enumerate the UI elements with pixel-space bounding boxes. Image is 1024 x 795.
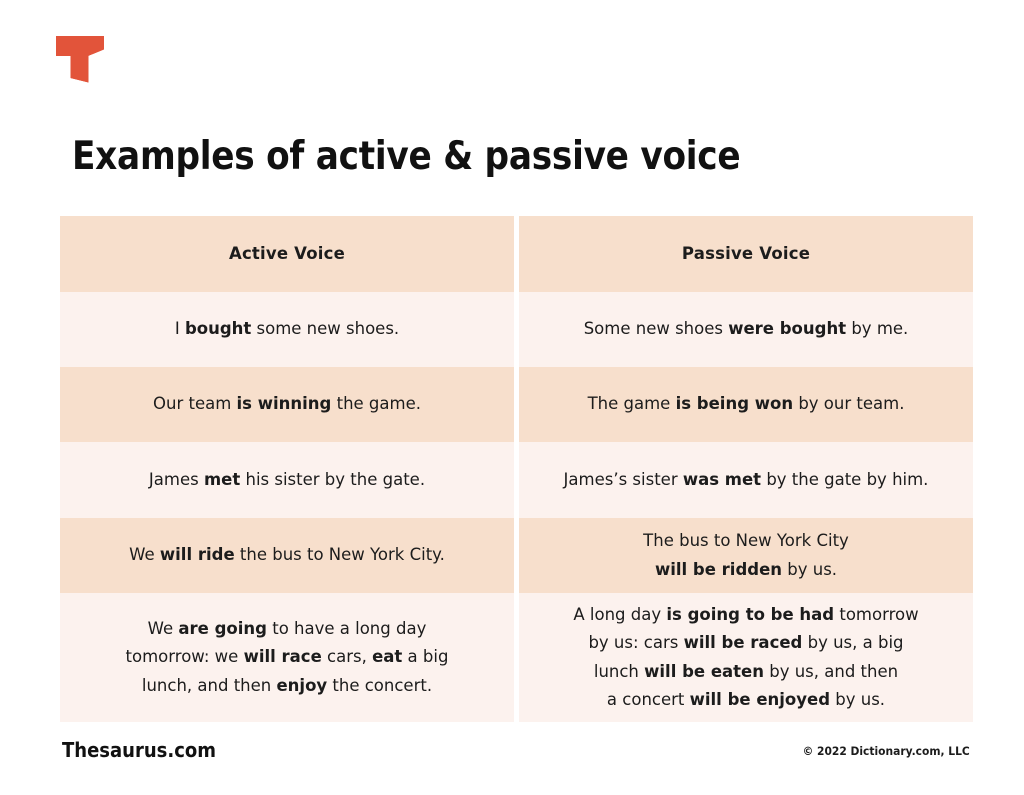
cell-passive-4: The bus to New York Citywill be ridden b…	[519, 518, 973, 593]
cell-passive-5: A long day is going to be had tomorrowby…	[519, 593, 973, 722]
active-passive-voice-table: Active Voice Passive Voice I bought some…	[60, 216, 973, 722]
cell-active-1: I bought some new shoes.	[60, 292, 514, 367]
footer-copyright: © 2022 Dictionary.com, LLC	[803, 744, 970, 758]
table-row: We are going to have a long daytomorrow:…	[60, 593, 973, 722]
cell-passive-3: James’s sister was met by the gate by hi…	[519, 442, 973, 518]
thesaurus-t-logo-icon	[56, 36, 106, 84]
table-row: We will ride the bus to New York City. T…	[60, 518, 973, 593]
table-row: Our team is winning the game. The game i…	[60, 367, 973, 442]
infographic-page: Examples of active & passive voice Activ…	[0, 0, 1024, 795]
cell-passive-1: Some new shoes were bought by me.	[519, 292, 973, 367]
column-header-active-voice: Active Voice	[60, 216, 514, 292]
cell-active-5: We are going to have a long daytomorrow:…	[60, 593, 514, 722]
cell-active-3: James met his sister by the gate.	[60, 442, 514, 518]
cell-active-4: We will ride the bus to New York City.	[60, 518, 514, 593]
table-header-row: Active Voice Passive Voice	[60, 216, 973, 292]
table-row: James met his sister by the gate. James’…	[60, 442, 973, 518]
footer-brand-name: Thesaurus.com	[62, 738, 216, 762]
cell-active-2: Our team is winning the game.	[60, 367, 514, 442]
page-title: Examples of active & passive voice	[72, 134, 740, 179]
column-header-passive-voice: Passive Voice	[519, 216, 973, 292]
table-row: I bought some new shoes. Some new shoes …	[60, 292, 973, 367]
cell-passive-2: The game is being won by our team.	[519, 367, 973, 442]
